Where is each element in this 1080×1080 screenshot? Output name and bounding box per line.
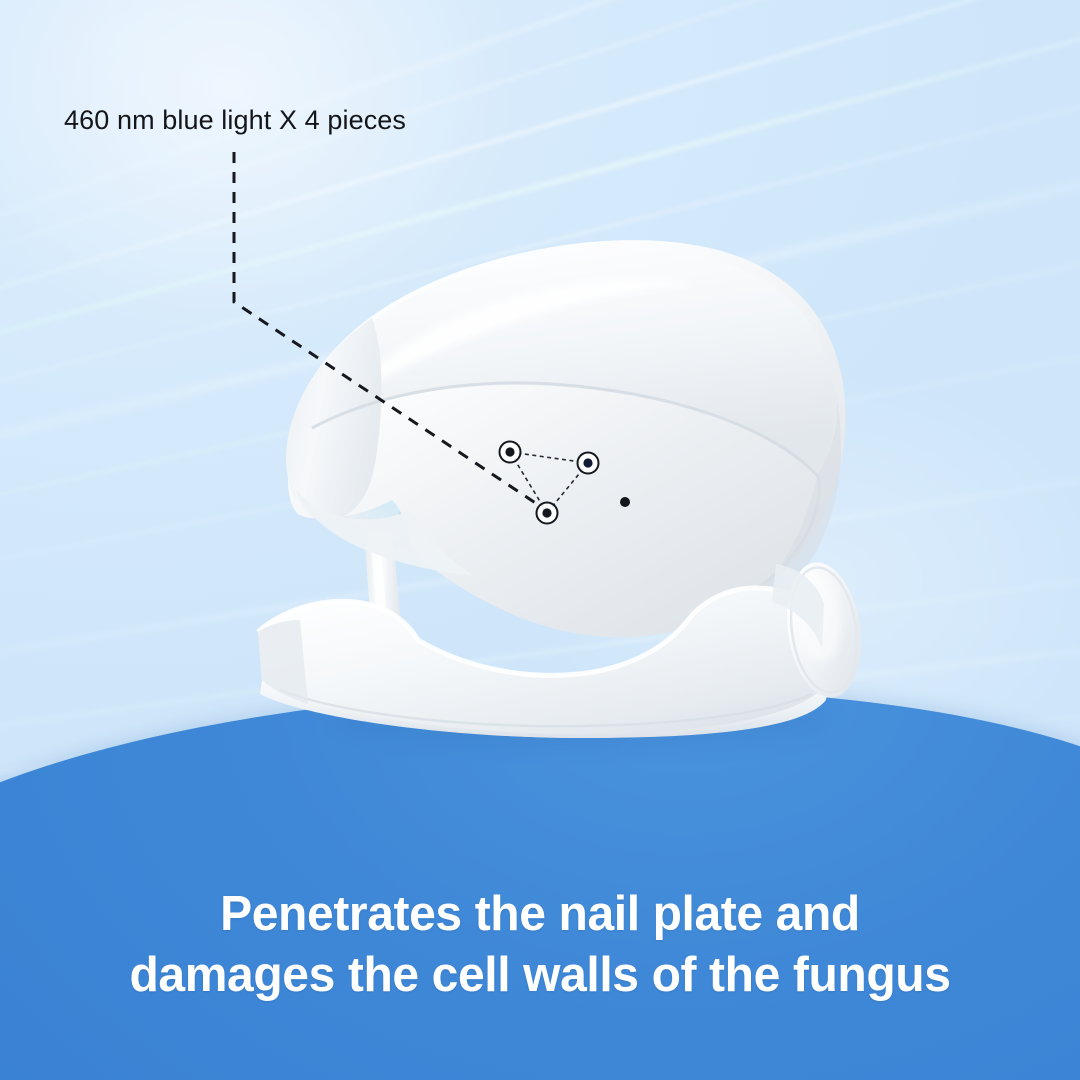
caption-line-1: Penetrates the nail plate and — [11, 884, 1069, 945]
caption-line-2: damages the cell walls of the fungus — [11, 945, 1069, 1006]
connector — [510, 452, 588, 463]
callout-marker-led-2 — [578, 453, 599, 474]
caption-block: Penetrates the nail plate and damages th… — [0, 884, 1080, 1006]
callout-marker-led-4 — [620, 497, 630, 507]
slide-canvas: 460 nm blue light X 4 pieces Penetrates … — [0, 0, 1080, 1080]
callout-marker-led-1 — [500, 442, 521, 463]
callout-marker-led-3 — [537, 503, 558, 524]
callout-markers — [500, 442, 631, 524]
callout-label: 460 nm blue light X 4 pieces — [64, 104, 406, 138]
